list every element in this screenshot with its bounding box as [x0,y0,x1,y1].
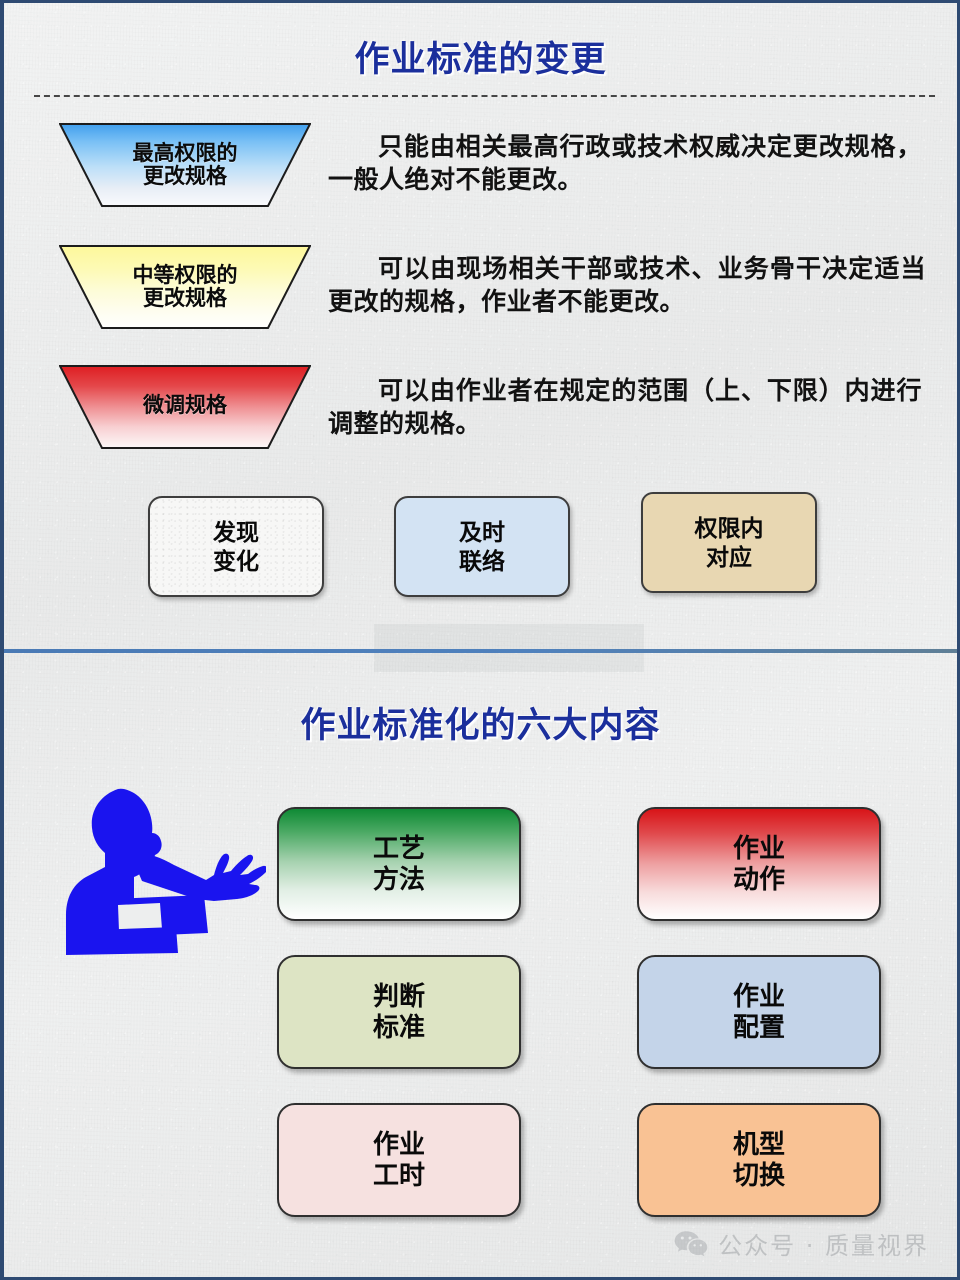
authority-level-fine[interactable]: 微调规格 [59,365,311,449]
dashed-divider [34,95,935,97]
authority-level-highest[interactable]: 最高权限的 更改规格 [59,123,311,207]
authority-level-highest-label: 最高权限的 更改规格 [133,142,238,188]
slide-canvas: 作业标准的变更 最高权限的 更改规格 中等权限的 更改规格 [0,0,960,1280]
response-chip-discover-change-label: 发现 变化 [213,518,259,574]
presenter-silhouette-icon [56,781,266,961]
top-section-title: 作业标准的变更 [4,31,957,82]
content-card-work-hours-label: 作业 工时 [373,1129,425,1191]
content-card-work-layout[interactable]: 作业 配置 [637,955,881,1069]
content-card-work-motion-label: 作业 动作 [733,833,785,895]
content-card-judgement-standard-label: 判断 标准 [373,981,425,1043]
authority-level-fine-label: 微调规格 [143,394,227,419]
wechat-icon [674,1230,708,1258]
authority-level-medium-description: 可以由现场相关干部或技术、业务骨干决定适当更改的规格，作业者不能更改。 [328,253,926,319]
content-card-work-motion[interactable]: 作业 动作 [637,807,881,921]
content-card-model-changeover-label: 机型 切换 [733,1129,785,1191]
content-card-model-changeover[interactable]: 机型 切换 [637,1103,881,1217]
content-card-work-layout-label: 作业 配置 [733,981,785,1043]
authority-level-highest-description: 只能由相关最高行政或技术权威决定更改规格，一般人绝对不能更改。 [328,131,922,197]
authority-level-medium-label: 中等权限的 更改规格 [133,264,238,310]
response-chip-timely-contact-label: 及时 联络 [459,518,505,574]
response-chip-discover-change[interactable]: 发现 变化 [148,496,324,597]
content-card-work-hours[interactable]: 作业 工时 [277,1103,521,1217]
section-divider [4,649,957,653]
footer-watermark-text: 公众号 · 质量视界 [718,1226,929,1261]
content-card-judgement-standard[interactable]: 判断 标准 [277,955,521,1069]
footer-watermark: 公众号 · 质量视界 [674,1226,929,1261]
response-chip-timely-contact[interactable]: 及时 联络 [394,496,570,597]
bottom-section-title: 作业标准化的六大内容 [4,697,957,748]
response-chip-within-authority-label: 权限内 对应 [695,514,764,570]
response-chip-within-authority[interactable]: 权限内 对应 [641,492,817,593]
content-card-process-method[interactable]: 工艺 方法 [277,807,521,921]
background-watermark-block [374,624,644,672]
content-card-process-method-label: 工艺 方法 [373,833,425,895]
authority-level-medium[interactable]: 中等权限的 更改规格 [59,245,311,329]
authority-level-fine-description: 可以由作业者在规定的范围（上、下限）内进行调整的规格。 [328,375,922,441]
